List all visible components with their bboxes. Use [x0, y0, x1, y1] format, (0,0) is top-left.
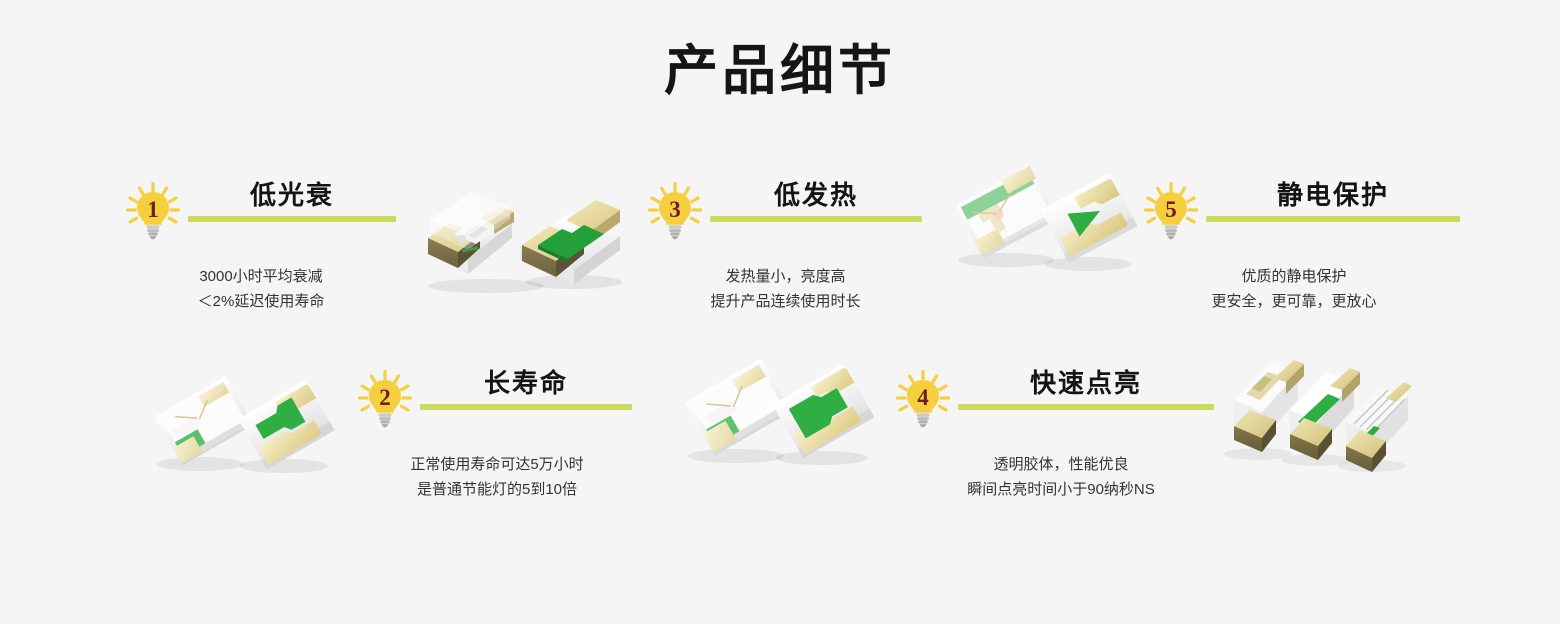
lightbulb-icon: 3	[648, 182, 702, 240]
description-line: 发热量小，亮度高	[648, 264, 923, 289]
product-image-5	[1212, 348, 1412, 483]
product-image-1	[416, 182, 626, 297]
title-underline	[958, 404, 1214, 410]
title-underline	[420, 404, 632, 410]
description-line: 3000小时平均衰减	[126, 264, 396, 289]
feature-3-title-group: 低发热	[710, 178, 922, 222]
feature-title: 低发热	[710, 178, 922, 212]
feature-5-title-group: 静电保护	[1206, 178, 1460, 222]
bulb-number-1: 1	[147, 197, 159, 222]
lightbulb-icon: 5	[1144, 182, 1198, 240]
description-line: 正常使用寿命可达5万小时	[358, 452, 636, 477]
feature-title: 快速点亮	[958, 366, 1214, 400]
product-image-4	[678, 352, 878, 477]
description-line: 透明胶体，性能优良	[896, 452, 1226, 477]
lightbulb-icon: 2	[358, 370, 412, 428]
feature-1-description: 3000小时平均衰减 ＜2%延迟使用寿命	[126, 264, 396, 314]
feature-title: 静电保护	[1206, 178, 1460, 212]
feature-3-description: 发热量小，亮度高 提升产品连续使用时长	[648, 264, 923, 314]
feature-4-description: 透明胶体，性能优良 瞬间点亮时间小于90纳秒NS	[896, 452, 1226, 502]
feature-block-1: 1 低光衰 3000小时平均衰减 ＜2%延迟使用寿命	[126, 178, 396, 314]
bulb-number-3: 3	[669, 197, 681, 222]
title-underline	[1206, 216, 1460, 222]
feature-title: 低光衰	[188, 178, 396, 212]
title-underline	[710, 216, 922, 222]
description-line: ＜2%延迟使用寿命	[126, 289, 396, 314]
product-detail-page: 产品细节	[0, 0, 1560, 624]
feature-5-description: 优质的静电保护 更安全，更可靠，更放心	[1144, 264, 1444, 314]
feature-2-description: 正常使用寿命可达5万小时 是普通节能灯的5到10倍	[358, 452, 636, 502]
feature-title: 长寿命	[420, 366, 632, 400]
feature-4-header: 4 快速点亮	[896, 366, 1226, 430]
product-image-2	[948, 160, 1138, 280]
feature-1-header: 1 低光衰	[126, 178, 396, 242]
page-title: 产品细节	[0, 42, 1560, 101]
lightbulb-icon: 4	[896, 370, 950, 428]
feature-block-2: 2 长寿命 正常使用寿命可达5万小时 是普通节能灯的5到10倍	[358, 366, 636, 502]
feature-3-header: 3 低发热	[648, 178, 923, 242]
bulb-number-5: 5	[1165, 197, 1177, 222]
feature-5-header: 5 静电保护	[1144, 178, 1444, 242]
feature-block-3: 3 低发热 发热量小，亮度高 提升产品连续使用时长	[648, 178, 923, 314]
feature-block-4: 4 快速点亮 透明胶体，性能优良 瞬间点亮时间小于90纳秒NS	[896, 366, 1226, 502]
product-image-3	[148, 366, 338, 486]
description-line: 是普通节能灯的5到10倍	[358, 477, 636, 502]
bulb-number-4: 4	[917, 385, 929, 410]
description-line: 更安全，更可靠，更放心	[1144, 289, 1444, 314]
bulb-number-2: 2	[379, 385, 391, 410]
feature-2-header: 2 长寿命	[358, 366, 636, 430]
feature-1-title-group: 低光衰	[188, 178, 396, 222]
title-underline	[188, 216, 396, 222]
lightbulb-icon: 1	[126, 182, 180, 240]
description-line: 优质的静电保护	[1144, 264, 1444, 289]
description-line: 瞬间点亮时间小于90纳秒NS	[896, 477, 1226, 502]
description-line: 提升产品连续使用时长	[648, 289, 923, 314]
feature-4-title-group: 快速点亮	[958, 366, 1214, 410]
feature-block-5: 5 静电保护 优质的静电保护 更安全，更可靠，更放心	[1144, 178, 1444, 314]
feature-2-title-group: 长寿命	[420, 366, 632, 410]
